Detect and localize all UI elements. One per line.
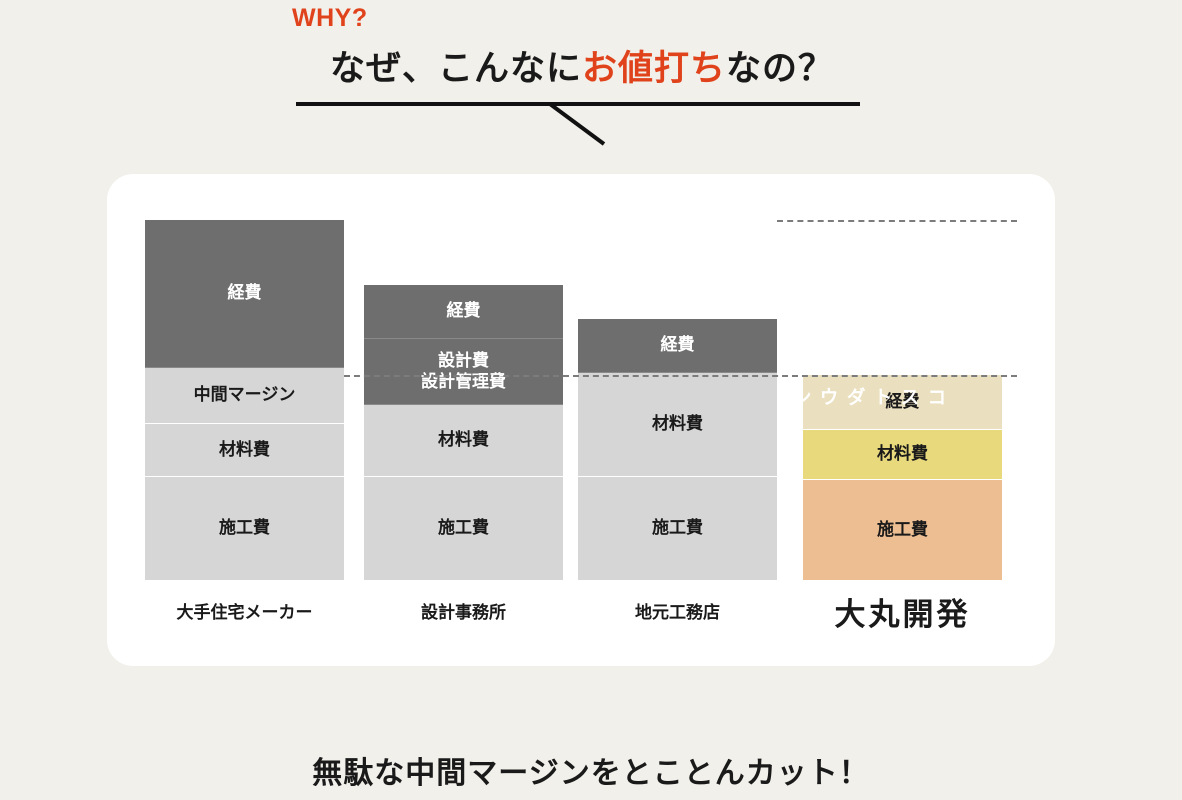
bar-segment: 施工費	[578, 477, 777, 581]
bar-segment: 経費	[578, 319, 777, 373]
eyebrow-why: WHY?	[292, 4, 368, 33]
bar-segment: 経費	[364, 285, 563, 339]
comparison-card: 経費中間マージン材料費施工費大手住宅メーカー経費設計費 設計管理費材料費施工費設…	[107, 174, 1055, 666]
bar-category-label: 設計事務所	[364, 581, 563, 623]
bar-column: 経費設計費 設計管理費材料費施工費設計事務所	[364, 285, 563, 581]
bar-column: 経費中間マージン材料費施工費大手住宅メーカー	[145, 220, 344, 581]
bar-segment: 施工費	[364, 477, 563, 581]
stacked-bar-chart: 経費中間マージン材料費施工費大手住宅メーカー経費設計費 設計管理費材料費施工費設…	[107, 174, 1055, 666]
headline-highlight: お値打ち	[582, 49, 726, 88]
bar-segment: 中間マージン	[145, 368, 344, 424]
cost-down-label: コストダウン	[863, 387, 949, 409]
bar-column: 経費材料費施工費地元工務店	[578, 319, 777, 581]
bar-category-label: 大手住宅メーカー	[145, 581, 344, 623]
bar-segment: 材料費	[145, 424, 344, 477]
bar-segment: 材料費	[803, 430, 1002, 480]
bar-category-label: 大丸開発	[803, 581, 1002, 634]
bar-segment: 施工費	[145, 477, 344, 581]
title-underline-tail-icon	[548, 104, 608, 146]
bar-segment: 経費	[145, 220, 344, 368]
bar-segment: 材料費	[578, 373, 777, 477]
page-title: なぜ、こんなにお値打ちなの？	[330, 40, 834, 91]
headline-suffix: なの？	[726, 49, 834, 88]
bar-segment: 材料費	[364, 405, 563, 477]
infographic-page: WHY? なぜ、こんなにお値打ちなの？ 経費中間マージン材料費施工費大手住宅メー…	[0, 0, 1182, 800]
bar-category-label: 地元工務店	[578, 581, 777, 623]
cost-down-arrow: コストダウン	[863, 375, 949, 393]
headline-prefix: なぜ、こんなに	[330, 49, 582, 88]
footer-caption: 無駄な中間マージンをとことんカット！	[0, 748, 1182, 792]
bar-segment: 設計費 設計管理費	[364, 339, 563, 405]
bar-segment: 施工費	[803, 480, 1002, 581]
guide-line-daimaru	[777, 220, 1017, 222]
